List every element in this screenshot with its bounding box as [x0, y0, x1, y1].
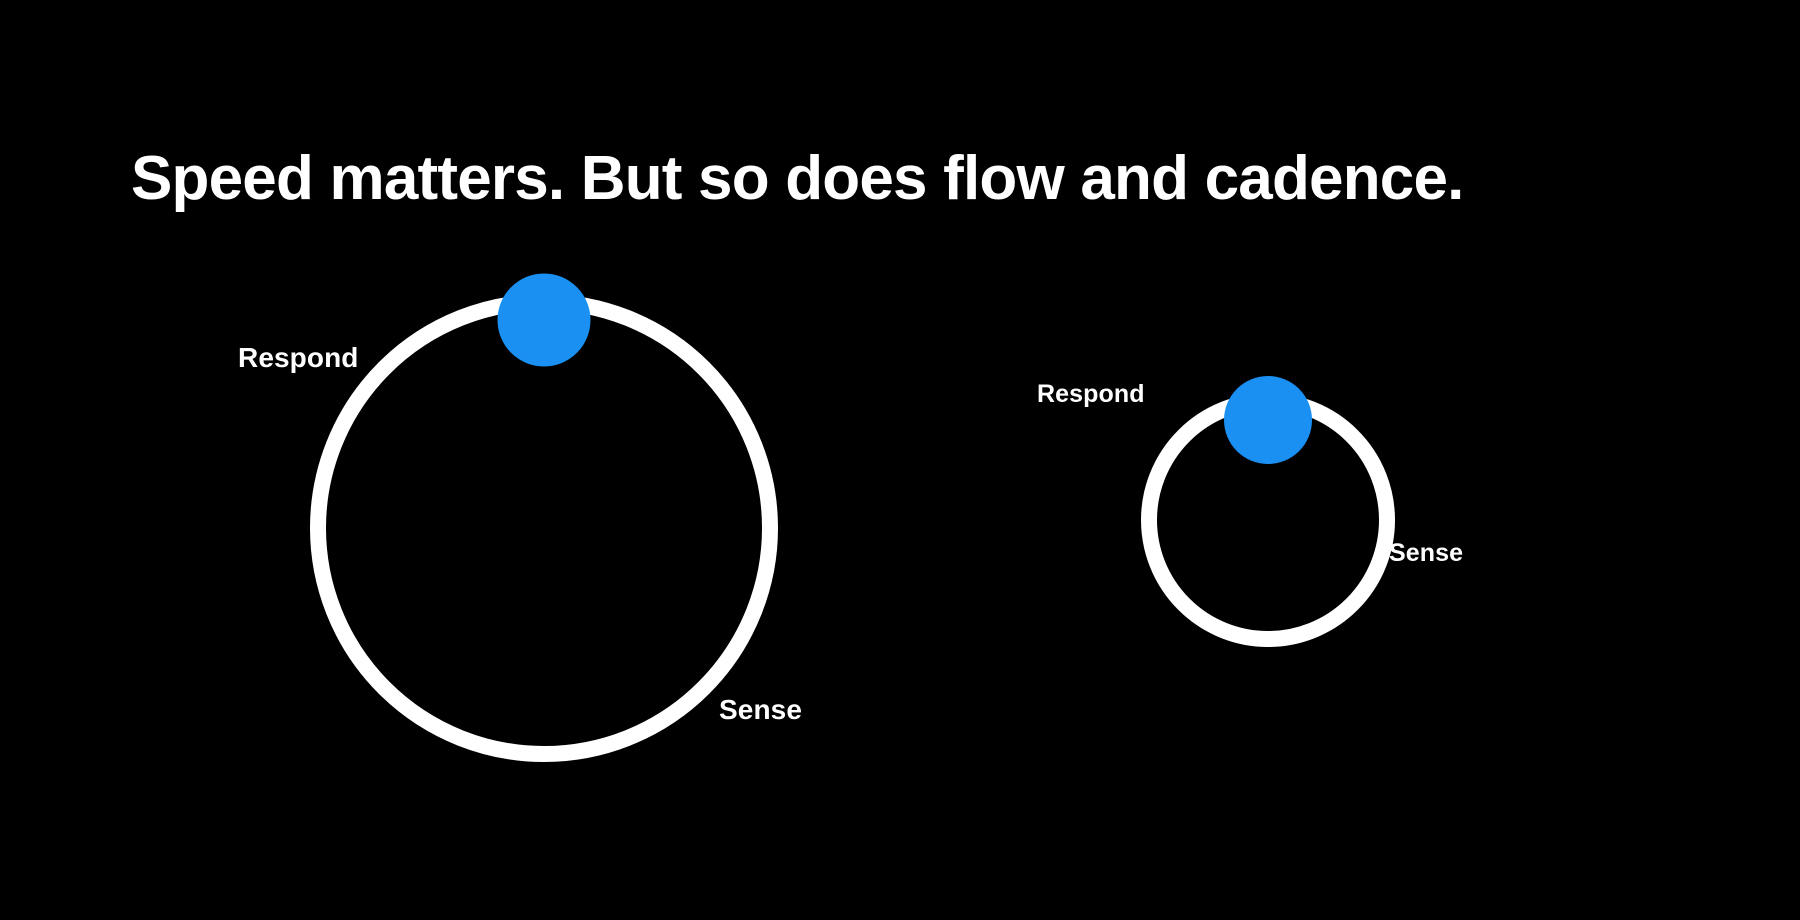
small-loop-group: Respond Sense [1141, 393, 1395, 647]
small-loop-sense-label: Sense [1389, 539, 1463, 568]
large-loop-respond-label: Respond [238, 342, 358, 374]
small-loop-respond-label: Respond [1037, 380, 1145, 409]
large-loop-group: Respond Sense [310, 294, 778, 762]
loop-diagram: Respond Sense Respond Sense [0, 0, 1800, 920]
small-loop-ring-icon [1141, 393, 1395, 647]
large-loop-ring-circle [318, 302, 770, 754]
large-loop-marker-dot[interactable] [498, 274, 591, 367]
small-loop-marker-dot[interactable] [1224, 376, 1312, 464]
large-loop-ring-icon [310, 294, 778, 762]
large-loop-sense-label: Sense [719, 694, 802, 726]
slide-canvas: Speed matters. But so does flow and cade… [0, 0, 1800, 920]
